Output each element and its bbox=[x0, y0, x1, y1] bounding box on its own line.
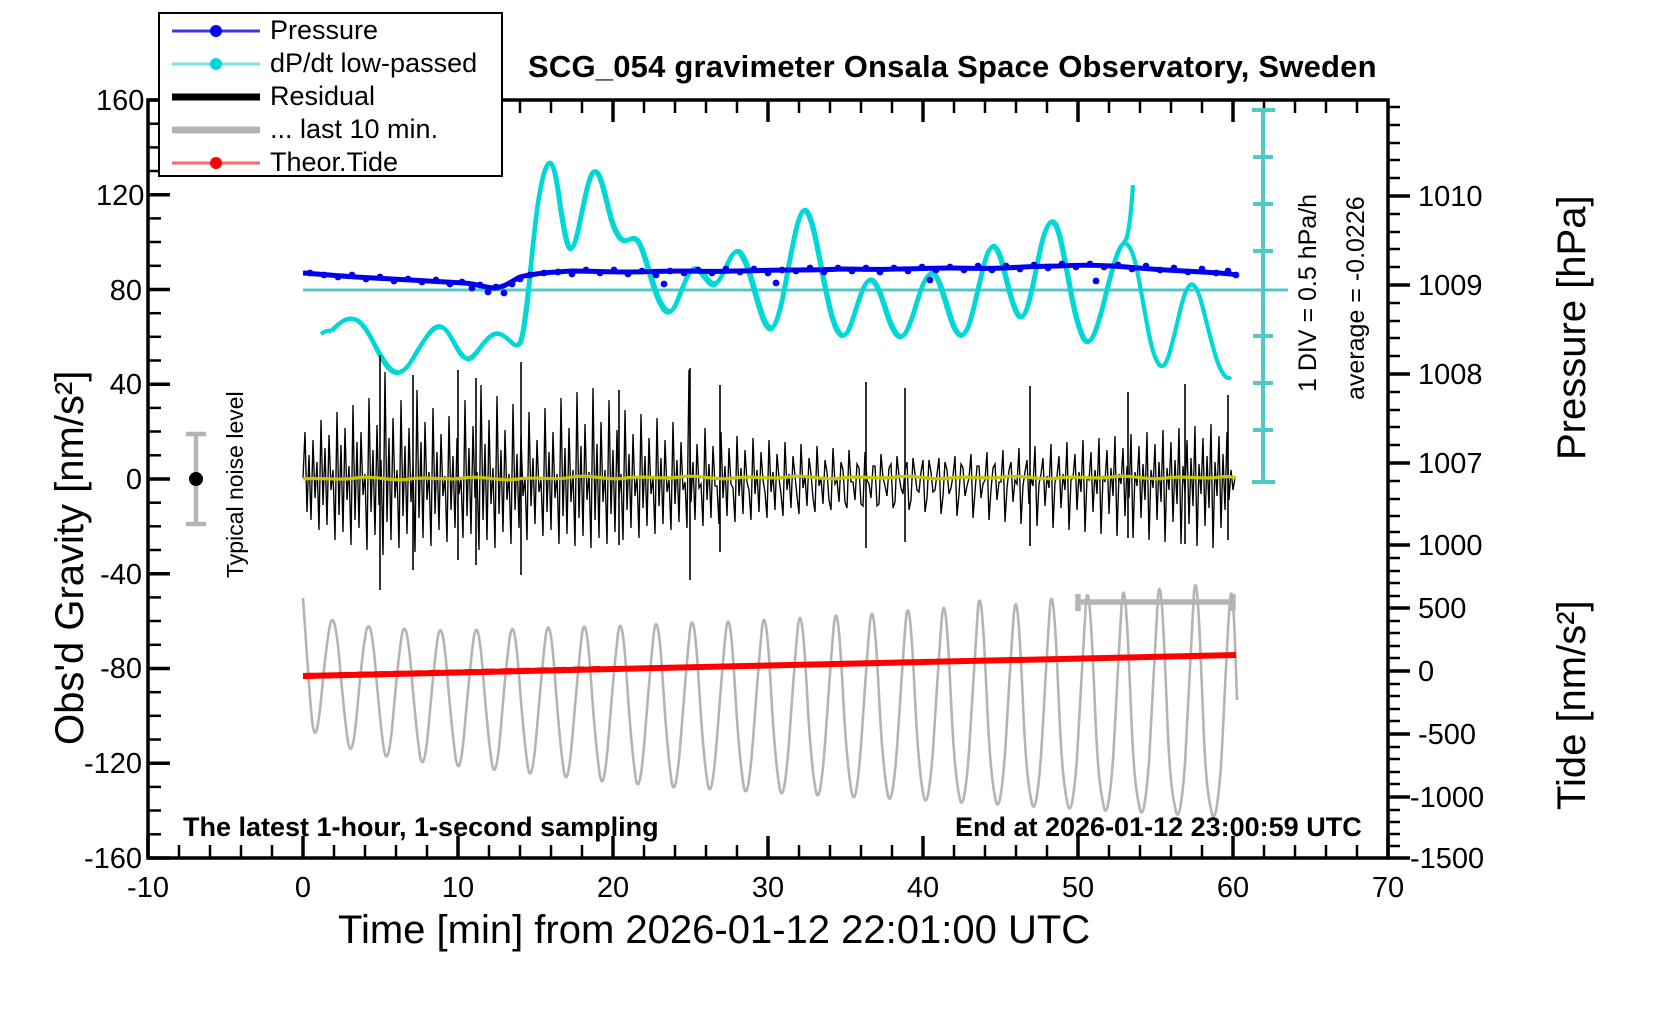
legend-item-theortide: Theor.Tide bbox=[160, 146, 501, 179]
legend-swatch-pressure bbox=[172, 21, 260, 41]
legend-label-residual: Residual bbox=[270, 83, 375, 110]
legend-swatch-last10 bbox=[172, 120, 260, 140]
pressure-tick-1010: 1010 bbox=[1418, 181, 1483, 214]
legend-item-last10: ... last 10 min. bbox=[160, 113, 501, 146]
legend: Pressure dP/dt low-passed Residual ... l… bbox=[158, 12, 503, 177]
legend-item-dpdt: dP/dt low-passed bbox=[160, 47, 501, 80]
left-tick-160: 160 bbox=[96, 85, 142, 118]
dpdt-average-label: average = -0.0226 bbox=[1342, 196, 1371, 400]
tide-tick-1000: 1000 bbox=[1418, 530, 1483, 563]
right-tide-axis-title: Tide [nm/s²] bbox=[1550, 600, 1595, 810]
left-axis-ticks bbox=[148, 100, 170, 858]
residual-spikes bbox=[380, 355, 1228, 590]
bottom-tick-30: 30 bbox=[738, 872, 798, 905]
series-dpdt-start-segment bbox=[321, 331, 332, 334]
dpdt-scale-label: 1 DIV = 0.5 hPa/h bbox=[1294, 194, 1323, 392]
tide-tick-500: 500 bbox=[1418, 593, 1466, 626]
bottom-tick-40: 40 bbox=[893, 872, 953, 905]
legend-label-theortide: Theor.Tide bbox=[270, 149, 398, 176]
pressure-tick-1008: 1008 bbox=[1418, 359, 1483, 392]
left-tick-0: 0 bbox=[96, 464, 142, 497]
tide-tick-m1500: -1500 bbox=[1410, 843, 1484, 876]
bottom-tick-50: 50 bbox=[1048, 872, 1108, 905]
footer-left-note: The latest 1-hour, 1-second sampling bbox=[183, 812, 659, 843]
tide-tick-m1000: -1000 bbox=[1410, 782, 1484, 815]
bottom-axis-title: Time [min] from 2026-01-12 22:01:00 UTC bbox=[338, 908, 1090, 953]
typical-noise-level-label: Typical noise level bbox=[222, 391, 249, 578]
right-tide-axis-minor-ticks bbox=[1388, 532, 1400, 846]
legend-label-last10: ... last 10 min. bbox=[270, 116, 438, 143]
pressure-tick-1007: 1007 bbox=[1418, 448, 1483, 481]
typical-noise-level-marker bbox=[186, 434, 206, 524]
footer-right-note: End at 2026-01-12 23:00:59 UTC bbox=[955, 812, 1362, 843]
bottom-tick-60: 60 bbox=[1203, 872, 1263, 905]
tide-tick-0: 0 bbox=[1418, 656, 1434, 689]
bottom-tick-10: 10 bbox=[428, 872, 488, 905]
left-tick-m120: -120 bbox=[84, 748, 142, 781]
bottom-tick-20: 20 bbox=[583, 872, 643, 905]
left-tick-120: 120 bbox=[96, 180, 142, 213]
tide-tick-m500: -500 bbox=[1418, 719, 1476, 752]
page-title: SCG_054 gravimeter Onsala Space Observat… bbox=[528, 49, 1377, 85]
legend-swatch-residual bbox=[172, 87, 260, 107]
left-tick-40: 40 bbox=[96, 369, 142, 402]
bottom-tick-m10: -10 bbox=[118, 872, 178, 905]
series-last-10-min bbox=[303, 585, 1237, 816]
right-pressure-axis-title: Pressure [hPa] bbox=[1550, 195, 1595, 460]
bottom-tick-0: 0 bbox=[273, 872, 333, 905]
bottom-tick-70: 70 bbox=[1358, 872, 1418, 905]
legend-item-pressure: Pressure bbox=[160, 14, 501, 47]
right-pressure-axis-minor-ticks bbox=[1388, 107, 1400, 516]
legend-label-pressure: Pressure bbox=[270, 17, 378, 44]
dpdt-scale-bar bbox=[1252, 110, 1275, 482]
pressure-tick-1009: 1009 bbox=[1418, 270, 1483, 303]
last-10-min-marker bbox=[1078, 594, 1233, 611]
left-tick-80: 80 bbox=[96, 275, 142, 308]
legend-swatch-theortide bbox=[172, 153, 260, 173]
right-pressure-axis-ticks bbox=[1388, 196, 1410, 463]
legend-label-dpdt: dP/dt low-passed bbox=[270, 50, 477, 77]
left-axis-title: Obs'd Gravity [nm/s²] bbox=[48, 371, 93, 745]
series-residual bbox=[303, 370, 1235, 555]
legend-item-residual: Residual bbox=[160, 80, 501, 113]
legend-swatch-dpdt bbox=[172, 54, 260, 74]
